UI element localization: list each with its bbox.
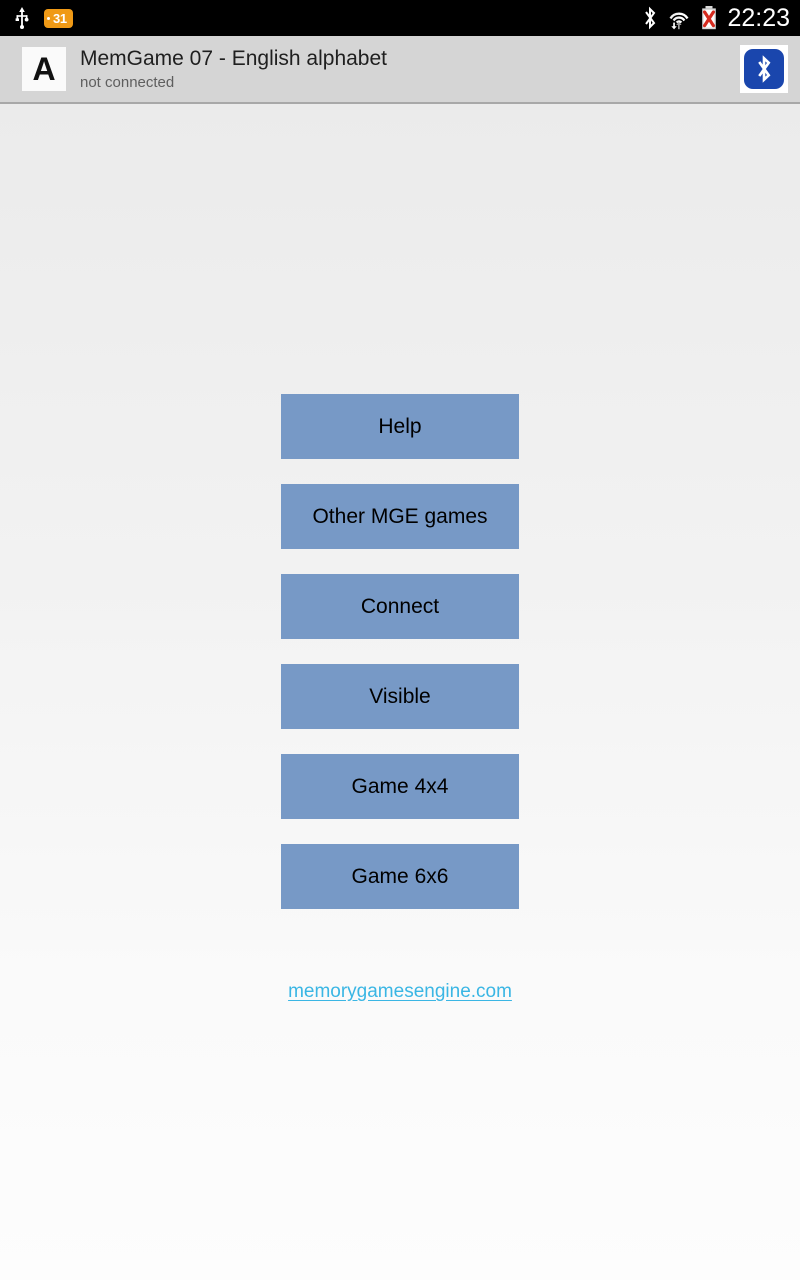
website-link[interactable]: memorygamesengine.com [288, 981, 512, 1003]
bluetooth-toggle-button[interactable] [740, 45, 788, 93]
wifi-icon [667, 6, 691, 30]
menu-button-connect[interactable]: Connect [281, 574, 519, 639]
status-bar-left-icons: 31 [14, 7, 73, 29]
menu-button-visible[interactable]: Visible [281, 664, 519, 729]
main-menu: Help Other MGE games Connect Visible Gam… [281, 394, 519, 1003]
bluetooth-button-icon [744, 49, 784, 89]
status-bar: 31 [0, 0, 800, 36]
notification-badge-31-icon: 31 [44, 9, 73, 28]
battery-error-icon [700, 5, 718, 31]
page-title: MemGame 07 - English alphabet [80, 47, 387, 71]
app-title-bar: A MemGame 07 - English alphabet not conn… [0, 36, 800, 104]
title-text-group: MemGame 07 - English alphabet not connec… [80, 47, 387, 91]
usb-icon [14, 7, 30, 29]
menu-button-help[interactable]: Help [281, 394, 519, 459]
menu-button-other-mge-games[interactable]: Other MGE games [281, 484, 519, 549]
main-content: Help Other MGE games Connect Visible Gam… [0, 104, 800, 1280]
menu-button-game-6x6[interactable]: Game 6x6 [281, 844, 519, 909]
app-icon: A [22, 47, 66, 91]
connection-status-label: not connected [80, 74, 387, 91]
app-screen: 31 [0, 0, 800, 1280]
bluetooth-icon [642, 6, 658, 30]
status-bar-right-icons: 22:23 [642, 5, 790, 31]
menu-button-game-4x4[interactable]: Game 4x4 [281, 754, 519, 819]
status-bar-clock: 22:23 [727, 6, 790, 31]
